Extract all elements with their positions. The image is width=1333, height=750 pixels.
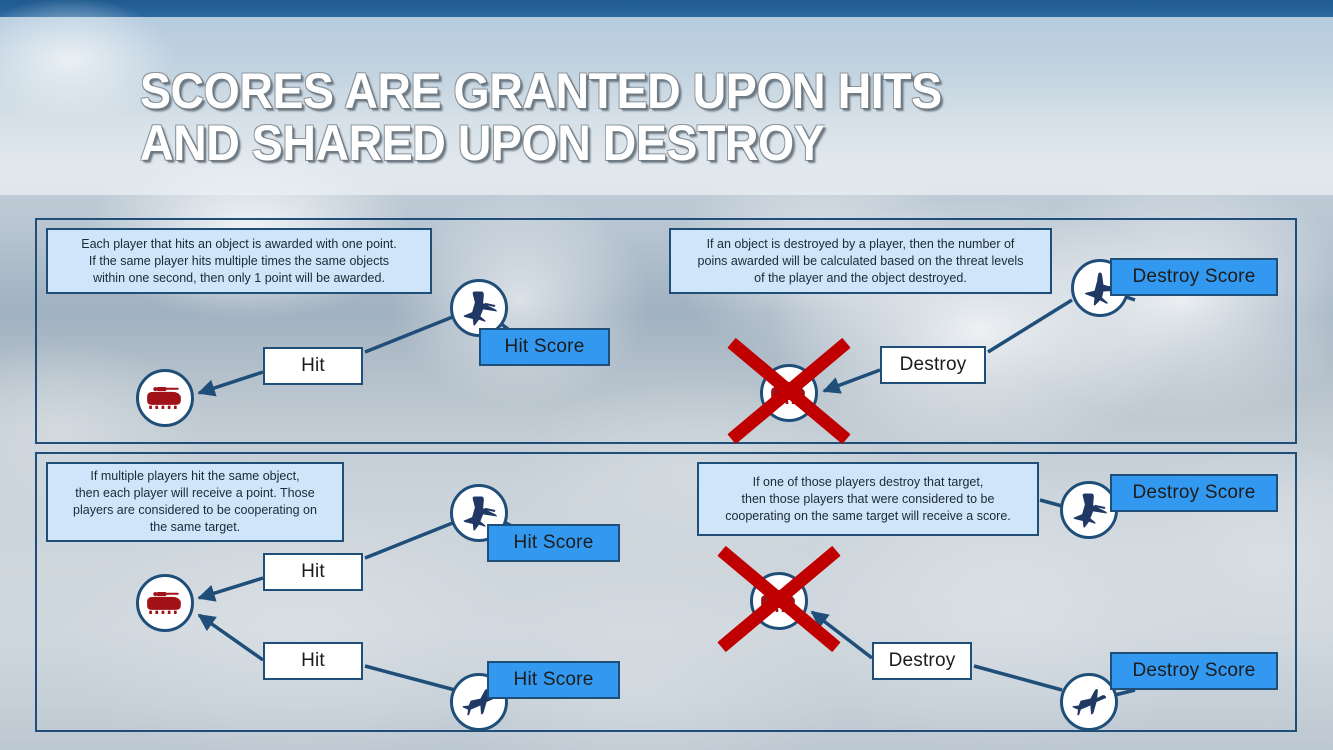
chip-hit[interactable]: Hit	[263, 553, 363, 591]
tank-icon	[757, 579, 801, 623]
note-destroy-rule: If an object is destroyed by a player, t…	[669, 228, 1052, 294]
fighter-jet-icon	[457, 286, 501, 330]
tank-icon	[143, 581, 187, 625]
chip-destroy-score[interactable]: Destroy Score	[1110, 258, 1278, 296]
unit-tank-destroyed[interactable]	[750, 572, 808, 630]
tank-icon	[767, 371, 811, 415]
chip-destroy[interactable]: Destroy	[872, 642, 972, 680]
note-hit-rule: Each player that hits an object is award…	[46, 228, 432, 294]
fighter-jet-icon	[1067, 488, 1111, 532]
chip-hit[interactable]: Hit	[263, 642, 363, 680]
fighter-jet-icon	[1067, 680, 1111, 724]
note-multi-hit-rule: If multiple players hit the same object,…	[46, 462, 344, 542]
chip-hit[interactable]: Hit	[263, 347, 363, 385]
unit-tank-destroyed[interactable]	[760, 364, 818, 422]
chip-destroy-score[interactable]: Destroy Score	[1110, 474, 1278, 512]
chip-destroy[interactable]: Destroy	[880, 346, 986, 384]
chip-hit-score[interactable]: Hit Score	[479, 328, 610, 366]
title-band: SCORES ARE GRANTED UPON HITS AND SHARED …	[0, 17, 1333, 195]
page-title: SCORES ARE GRANTED UPON HITS AND SHARED …	[140, 65, 1163, 169]
chip-hit-score[interactable]: Hit Score	[487, 661, 620, 699]
unit-tank[interactable]	[136, 369, 194, 427]
chip-destroy-score[interactable]: Destroy Score	[1110, 652, 1278, 690]
unit-tank[interactable]	[136, 574, 194, 632]
note-shared-destroy-rule: If one of those players destroy that tar…	[697, 462, 1039, 536]
chip-hit-score[interactable]: Hit Score	[487, 524, 620, 562]
tank-icon	[143, 376, 187, 420]
